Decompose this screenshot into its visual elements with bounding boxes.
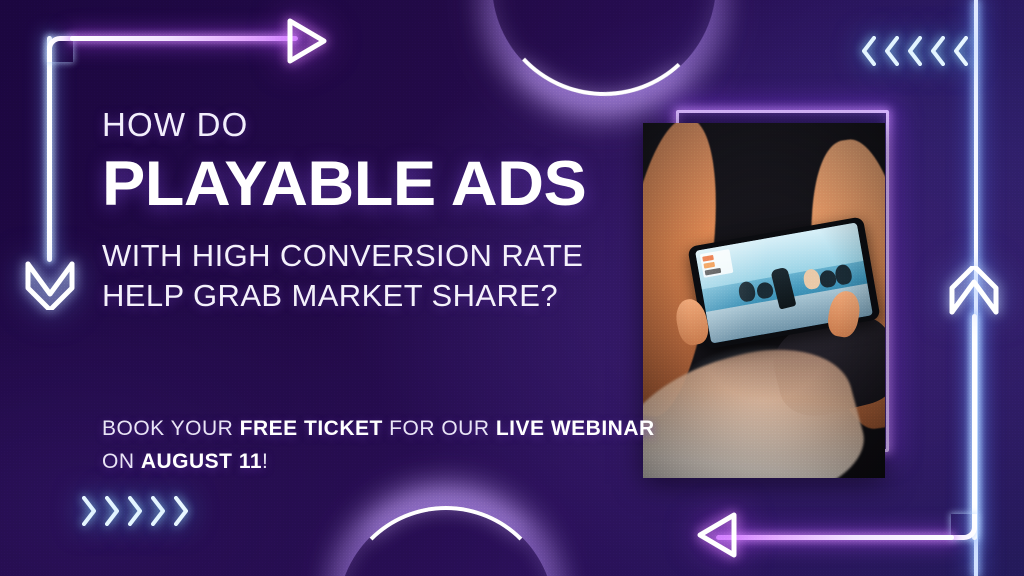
chevron-right-icon <box>101 494 123 528</box>
subline-text: WITH HIGH CONVERSION RATE HELP GRAB MARK… <box>102 236 662 317</box>
arrow-tail-down-icon <box>20 248 80 310</box>
arrow-horizontal-line <box>716 535 954 540</box>
cta-free-ticket: FREE TICKET <box>240 417 383 440</box>
cta-part-1: BOOK YOUR <box>102 417 240 440</box>
cta-text: BOOK YOUR FREE TICKET FOR OUR LIVE WEBIN… <box>102 412 662 478</box>
chevron-left-icon <box>950 34 972 68</box>
cta-part-2: FOR OUR <box>383 417 496 440</box>
arrow-corner <box>47 36 73 62</box>
chevron-right-icon <box>78 494 100 528</box>
photo-vignette <box>643 123 885 478</box>
chevron-right-icon <box>124 494 146 528</box>
arrow-head-left-icon <box>690 507 746 563</box>
cta-date: AUGUST 11 <box>141 450 262 473</box>
cta-part-3: ON <box>102 450 141 473</box>
arrow-corner <box>951 514 977 540</box>
cta-live-webinar: LIVE WEBINAR <box>496 417 655 440</box>
neon-arc-top-icon <box>488 0 720 100</box>
chevron-cluster-bottom-left <box>78 494 192 528</box>
chevron-left-icon <box>904 34 926 68</box>
cta-part-4: ! <box>262 450 268 473</box>
chevron-right-icon <box>147 494 169 528</box>
arrow-vertical-line <box>972 314 977 540</box>
arrow-tail-up-icon <box>944 266 1004 328</box>
subline-line-2: HELP GRAB MARKET SHARE? <box>102 276 662 316</box>
webinar-promo-banner: HOW DO PLAYABLE ADS WITH HIGH CONVERSION… <box>0 0 1024 576</box>
subline-line-1: WITH HIGH CONVERSION RATE <box>102 236 662 276</box>
neon-arc-bottom-icon <box>338 506 554 576</box>
chevron-right-icon <box>170 494 192 528</box>
arrow-head-right-icon <box>278 13 334 69</box>
page-title: PLAYABLE ADS <box>102 153 679 216</box>
chevron-left-icon <box>858 34 880 68</box>
arrow-horizontal-line <box>70 36 298 41</box>
headline-block: HOW DO PLAYABLE ADS WITH HIGH CONVERSION… <box>102 108 662 317</box>
kicker-text: HOW DO <box>102 108 662 141</box>
chevron-left-icon <box>927 34 949 68</box>
chevron-left-icon <box>881 34 903 68</box>
arrow-vertical-line <box>47 36 52 262</box>
gameplay-photo <box>643 123 885 478</box>
chevron-cluster-top-right <box>858 34 972 68</box>
